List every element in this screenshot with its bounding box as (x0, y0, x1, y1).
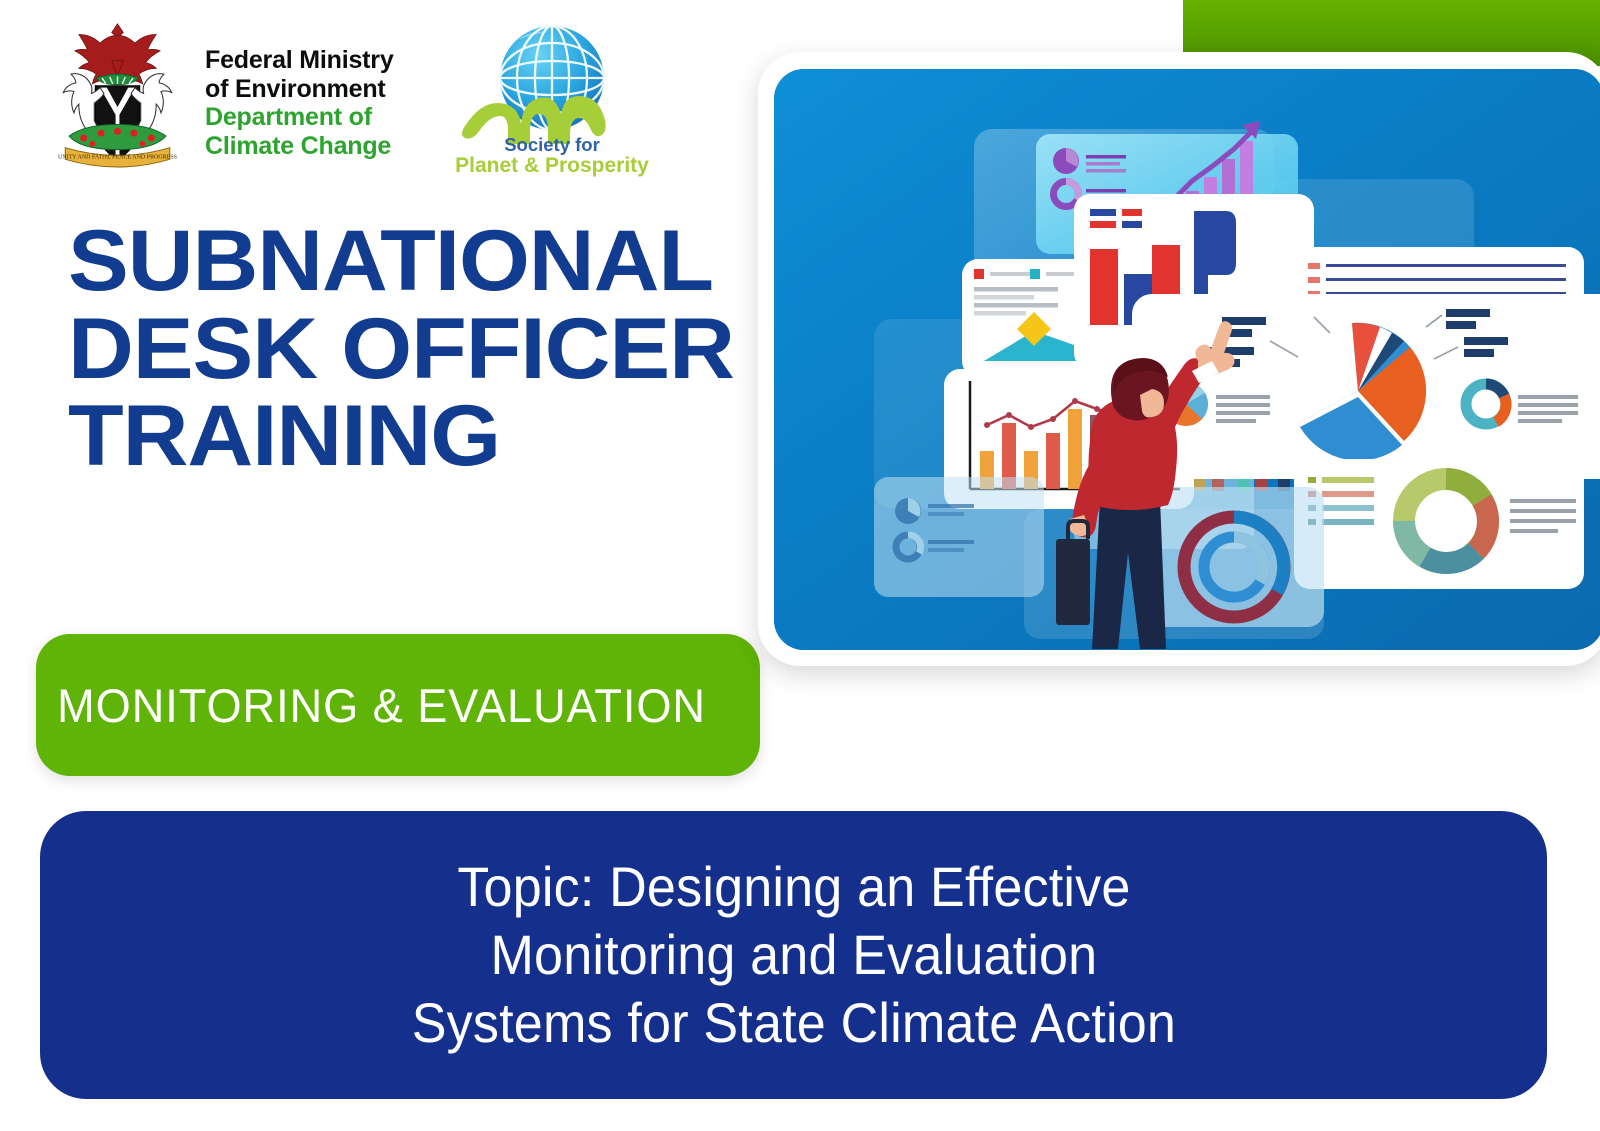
pie-chart-card (1132, 294, 1600, 479)
page-title-line-2: DESK OFFICER (68, 306, 810, 394)
page-title-line-3: TRAINING (68, 393, 810, 481)
ministry-text-block: Federal Ministry of Environment Departme… (205, 46, 394, 160)
slide-root: UNITY AND FAITH, PEACE AND PROGRESS Fede… (0, 0, 1600, 1131)
progress-ring-card (1144, 487, 1324, 627)
illustration-card (758, 52, 1600, 666)
logo-row: UNITY AND FAITH, PEACE AND PROGRESS Fede… (40, 18, 394, 168)
topic-line-3: Systems for State Climate Action (411, 989, 1175, 1057)
topic-line-2: Monitoring and Evaluation (411, 921, 1175, 989)
society-line-2: Planet & Prosperity (455, 154, 649, 177)
ministry-line-4: Climate Change (205, 132, 394, 161)
badge-label: MONITORING & EVALUATION (36, 678, 706, 733)
topic-text: Topic: Designing an Effective Monitoring… (411, 853, 1175, 1058)
ministry-line-3: Department of (205, 103, 394, 132)
mini-analytics-ghost-card (874, 477, 1044, 597)
society-line-1: Society for (504, 134, 600, 155)
coat-of-arms-motto: UNITY AND FAITH, PEACE AND PROGRESS (58, 154, 177, 160)
page-title-line-1: SUBNATIONAL (68, 218, 810, 306)
society-planet-prosperity-logo: Society for Planet & Prosperity (455, 18, 650, 178)
page-title: SUBNATIONAL DESK OFFICER TRAINING (68, 218, 810, 481)
ministry-line-1: Federal Ministry (205, 46, 394, 75)
illustration-panel (774, 69, 1600, 650)
mini-pie-a (1053, 148, 1079, 174)
donut-chart-card (1294, 459, 1584, 589)
ministry-line-2: of Environment (205, 75, 394, 104)
nigeria-coat-of-arms-icon: UNITY AND FAITH, PEACE AND PROGRESS (40, 18, 195, 168)
topic-banner: Topic: Designing an Effective Monitoring… (40, 811, 1547, 1099)
business-analytics-illustration (774, 69, 1600, 650)
topic-line-1: Topic: Designing an Effective (411, 853, 1175, 921)
monitoring-evaluation-badge: MONITORING & EVALUATION (36, 634, 760, 776)
